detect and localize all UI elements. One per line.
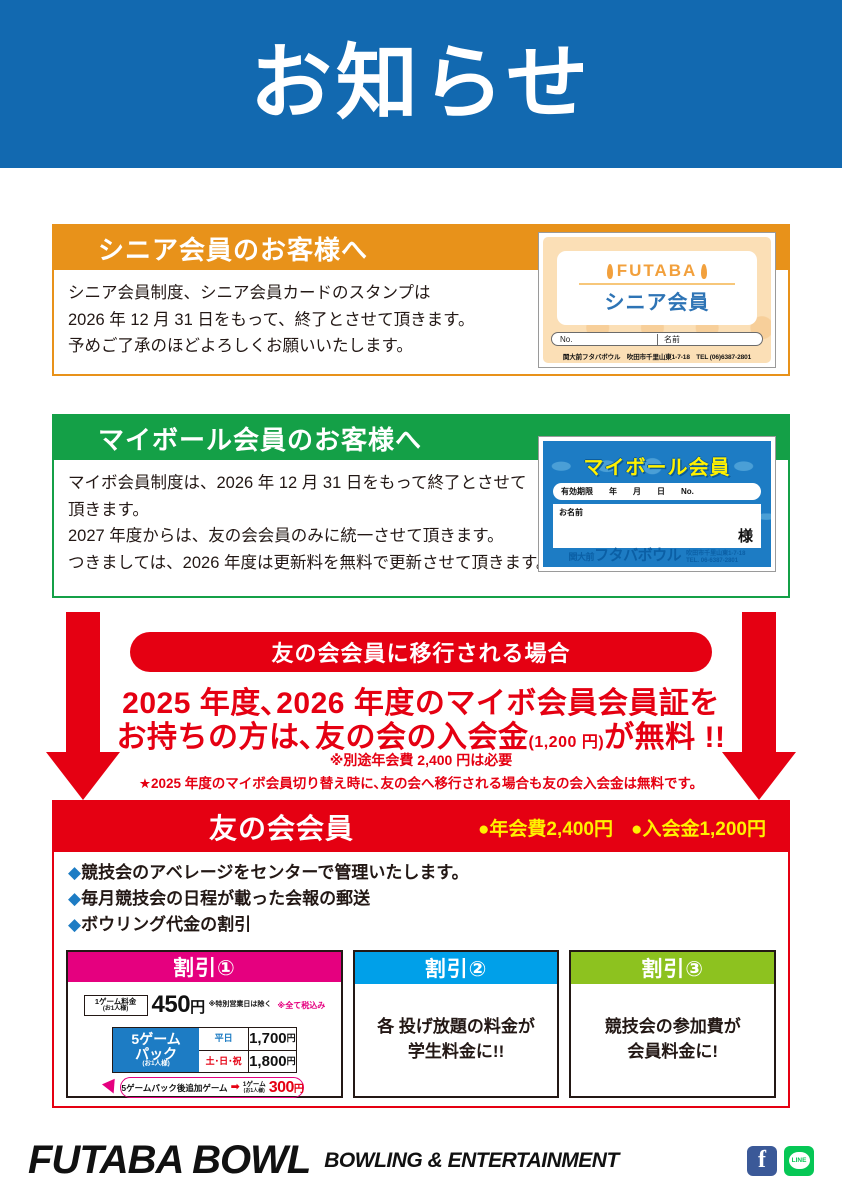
myball-month-label: 月 [633, 486, 641, 497]
extra-unit-main: 1ゲーム [243, 1081, 266, 1088]
discount-box-3: 割引③ 競技会の参加費が 会員料金に! [569, 950, 776, 1098]
tax-inclusive-note: ※全て税込み [277, 1000, 325, 1012]
annual-fee-badge: ●年会費2,400円 [478, 814, 613, 841]
extra-price-yen: 円 [294, 1084, 304, 1095]
weekday-price: 1,700円 [249, 1028, 296, 1050]
discount-1-title: 割引① [68, 952, 341, 982]
transfer-line2-paren: (1,200 円) [529, 734, 605, 751]
discount-2-body: 各 投げ放題の料金が 学生料金に!! [355, 984, 558, 1096]
weekday-price-yen: 円 [287, 1032, 296, 1045]
senior-card-address: 関大前フタバボウル 吹田市千里山東1-7-18 TEL (06)6387-280… [543, 351, 771, 361]
social-icons: f LINE [747, 1146, 814, 1176]
list-item: ◆競技会のアベレージをセンターで管理いたします。 [68, 860, 774, 886]
benefit-text-2: 毎月競技会の日程が載った会報の郵送 [81, 889, 370, 908]
futaba-bowl-logo: FUTABA BOWL [28, 1138, 310, 1183]
game-price-value: 450円 [152, 988, 205, 1023]
myball-card-logo: 関大前フタバボウル [569, 544, 682, 565]
bowling-pin-icon [607, 264, 613, 279]
senior-card-fields: No. 名前 [551, 332, 763, 346]
transfer-star-note: ★2025 年度のマイボ会員切り替え時に､友の会へ移行される場合も友の会入会金は… [0, 772, 842, 792]
myball-card-address: 吹田市千里山東1-7-18 TEL. 06-6387-2801 [686, 551, 745, 565]
discount-2-line-2: 学生料金に!! [408, 1040, 504, 1065]
diamond-bullet-icon: ◆ [68, 915, 81, 934]
senior-card-no-label: No. [552, 335, 657, 344]
benefit-text-3: ボウリング代金の割引 [81, 915, 251, 934]
myball-year-label: 年 [609, 486, 617, 497]
myball-name-label: お名前 [559, 508, 583, 517]
game-price-label-sub: (お1人様) [88, 1006, 144, 1013]
game-price-label-main: 1ゲーム料金 [95, 997, 136, 1006]
senior-card-divider [579, 283, 735, 285]
facebook-icon[interactable]: f [747, 1146, 777, 1176]
myball-card-expiry-row: 有効期限 年 月 日 No. [553, 483, 761, 500]
senior-card-brand-text: FUTABA [617, 261, 698, 281]
weekend-label: 土･日･祝 [199, 1051, 249, 1073]
weekend-price-yen: 円 [287, 1055, 296, 1068]
myball-day-label: 日 [657, 486, 665, 497]
tomonokai-fees: ●年会費2,400円 ●入会金1,200円 [478, 814, 766, 841]
discount-boxes-row: 割引① 1ゲーム料金 (お1人様) 450円 ※特別営業日は除く ※全て税込み … [66, 950, 776, 1098]
table-row: 平日 1,700円 [199, 1028, 296, 1051]
tomonokai-title: 友の会会員 [209, 807, 354, 847]
weekend-price: 1,800円 [249, 1051, 296, 1073]
diamond-bullet-icon: ◆ [68, 863, 81, 882]
myball-expiry-label: 有効期限 [561, 486, 593, 497]
extra-game-unit: 1ゲーム(お1人様) [243, 1082, 266, 1094]
senior-card-kana: シニア会員 [605, 286, 710, 315]
pack-price-rows: 平日 1,700円 土･日･祝 1,800円 [199, 1028, 296, 1073]
myball-member-card-image: マイボール会員 有効期限 年 月 日 No. お名前 様 関大前フタバボウル 吹… [538, 436, 776, 572]
discount-box-1: 割引① 1ゲーム料金 (お1人様) 450円 ※特別営業日は除く ※全て税込み … [66, 950, 343, 1098]
senior-card-brand: FUTABA [607, 261, 708, 281]
transfer-pill-banner: 友の会会員に移行される場合 [130, 632, 712, 672]
entry-fee-badge: ●入会金1,200円 [631, 814, 766, 841]
senior-card-face: FUTABA シニア会員 No. 名前 関大前フタバボウル 吹田市千里山東1-7… [543, 237, 771, 363]
weekend-price-number: 1,800 [249, 1051, 287, 1073]
pink-arrow-icon [102, 1079, 120, 1097]
myball-card-name-row: お名前 様 [553, 504, 761, 548]
diamond-bullet-icon: ◆ [68, 889, 81, 908]
senior-card-name-label: 名前 [657, 334, 762, 345]
discount-box-2: 割引② 各 投げ放題の料金が 学生料金に!! [353, 950, 560, 1098]
myball-card-face: マイボール会員 有効期限 年 月 日 No. お名前 様 関大前フタバボウル 吹… [543, 441, 771, 567]
discount-2-title: 割引② [355, 952, 558, 984]
pack-label-line1: 5ゲーム [131, 1032, 180, 1047]
game-price-label: 1ゲーム料金 (お1人様) [84, 995, 148, 1016]
extra-game-text: 5ゲームパック後追加ゲーム [121, 1082, 227, 1094]
senior-member-card-image: FUTABA シニア会員 No. 名前 関大前フタバボウル 吹田市千里山東1-7… [538, 232, 776, 368]
extra-game-price: 300円 [269, 1076, 304, 1099]
myball-card-footer: 関大前フタバボウル 吹田市千里山東1-7-18 TEL. 06-6387-280… [543, 544, 771, 565]
extra-unit-sub: (お1人様) [243, 1089, 266, 1094]
table-row: 土･日･祝 1,800円 [199, 1051, 296, 1073]
discount-3-line-2: 会員料金に! [627, 1040, 718, 1065]
myball-address-line1: 吹田市千里山東1-7-18 [686, 551, 745, 558]
extra-price-number: 300 [269, 1079, 294, 1096]
weekday-price-number: 1,700 [249, 1028, 287, 1050]
right-arrow-icon: ➡ [231, 1080, 240, 1096]
line-bubble-shape: LINE [789, 1152, 810, 1169]
page-title: お知らせ [250, 43, 592, 125]
myball-address-line2: TEL. 06-6387-2801 [686, 558, 745, 565]
tomonokai-section: 友の会会員 ●年会費2,400円 ●入会金1,200円 ◆競技会のアベレージをセ… [52, 800, 790, 1108]
page-header: お知らせ [0, 0, 842, 168]
list-item: ◆毎月競技会の日程が載った会報の郵送 [68, 886, 774, 912]
benefit-text-1: 競技会のアベレージをセンターで管理いたします。 [81, 863, 469, 882]
bowling-pin-icon [701, 264, 707, 279]
transfer-note: ※別途年会費 2,400 円は必要 [0, 750, 842, 770]
myball-logo-main: フタバボウル [594, 547, 681, 564]
footer-tagline: BOWLING & ENTERTAINMENT [324, 1149, 619, 1173]
myball-no-label: No. [681, 487, 694, 496]
extra-game-oval: 5ゲームパック後追加ゲーム ➡ 1ゲーム(お1人様) 300円 [120, 1077, 304, 1098]
senior-card-panel: FUTABA シニア会員 [557, 251, 757, 325]
discount-2-line-1: 各 投げ放題の料金が [377, 1015, 535, 1040]
game-price-exclusion-note: ※特別営業日は除く [209, 1000, 272, 1010]
extra-game-row: 5ゲームパック後追加ゲーム ➡ 1ゲーム(お1人様) 300円 [98, 1077, 310, 1098]
tomonokai-benefit-list: ◆競技会のアベレージをセンターで管理いたします。 ◆毎月競技会の日程が載った会報… [54, 852, 788, 941]
transfer-notice-block: 友の会会員に移行される場合 2025 年度､2026 年度のマイボ会員会員証を … [0, 612, 842, 800]
discount-1-game-price-row: 1ゲーム料金 (お1人様) 450円 ※特別営業日は除く ※全て税込み [84, 988, 326, 1023]
pack-label-cell: 5ゲーム パック (お1人様) [113, 1028, 199, 1073]
discount-3-title: 割引③ [571, 952, 774, 984]
myball-name-suffix: 様 [738, 525, 753, 546]
page-footer: FUTABA BOWL BOWLING & ENTERTAINMENT f LI… [0, 1130, 842, 1191]
myball-card-title: マイボール会員 [543, 451, 771, 480]
discount-3-line-1: 競技会の参加費が [605, 1015, 741, 1040]
pack-label-line3: (お1人様) [142, 1061, 169, 1068]
list-item: ◆ボウリング代金の割引 [68, 912, 774, 938]
tomonokai-header: 友の会会員 ●年会費2,400円 ●入会金1,200円 [54, 802, 788, 852]
game-price-number: 450 [152, 991, 191, 1018]
game-price-yen: 円 [190, 999, 205, 1016]
line-icon[interactable]: LINE [784, 1146, 814, 1176]
pack-price-table: 5ゲーム パック (お1人様) 平日 1,700円 土･日･祝 1,800円 [112, 1027, 297, 1074]
discount-3-body: 競技会の参加費が 会員料金に! [571, 984, 774, 1096]
weekday-label: 平日 [199, 1028, 249, 1050]
myball-logo-prefix: 関大前 [569, 552, 595, 562]
line-icon-label: LINE [792, 1157, 807, 1164]
discount-1-body: 1ゲーム料金 (お1人様) 450円 ※特別営業日は除く ※全て税込み 5ゲーム… [68, 982, 341, 1104]
